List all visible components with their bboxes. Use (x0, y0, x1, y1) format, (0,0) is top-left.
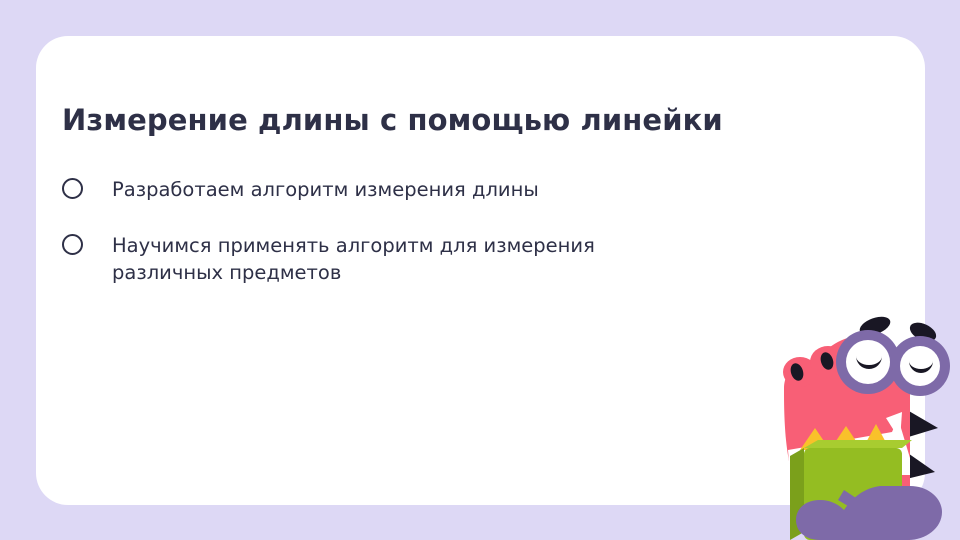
page-title: Измерение длины с помощью линейки (62, 103, 862, 138)
list-item-label: Разработаем алгоритм измерения длины (112, 176, 539, 204)
circle-outline-icon (62, 234, 83, 255)
circle-outline-icon (62, 178, 83, 199)
bullet-list: Разработаем алгоритм измерения длины Нау… (62, 176, 742, 315)
list-item: Научимся применять алгоритм для измерени… (62, 232, 742, 287)
list-item: Разработаем алгоритм измерения длины (62, 176, 742, 204)
slide-root: Измерение длины с помощью линейки Разраб… (0, 0, 960, 540)
list-item-label: Научимся применять алгоритм для измерени… (112, 232, 712, 287)
